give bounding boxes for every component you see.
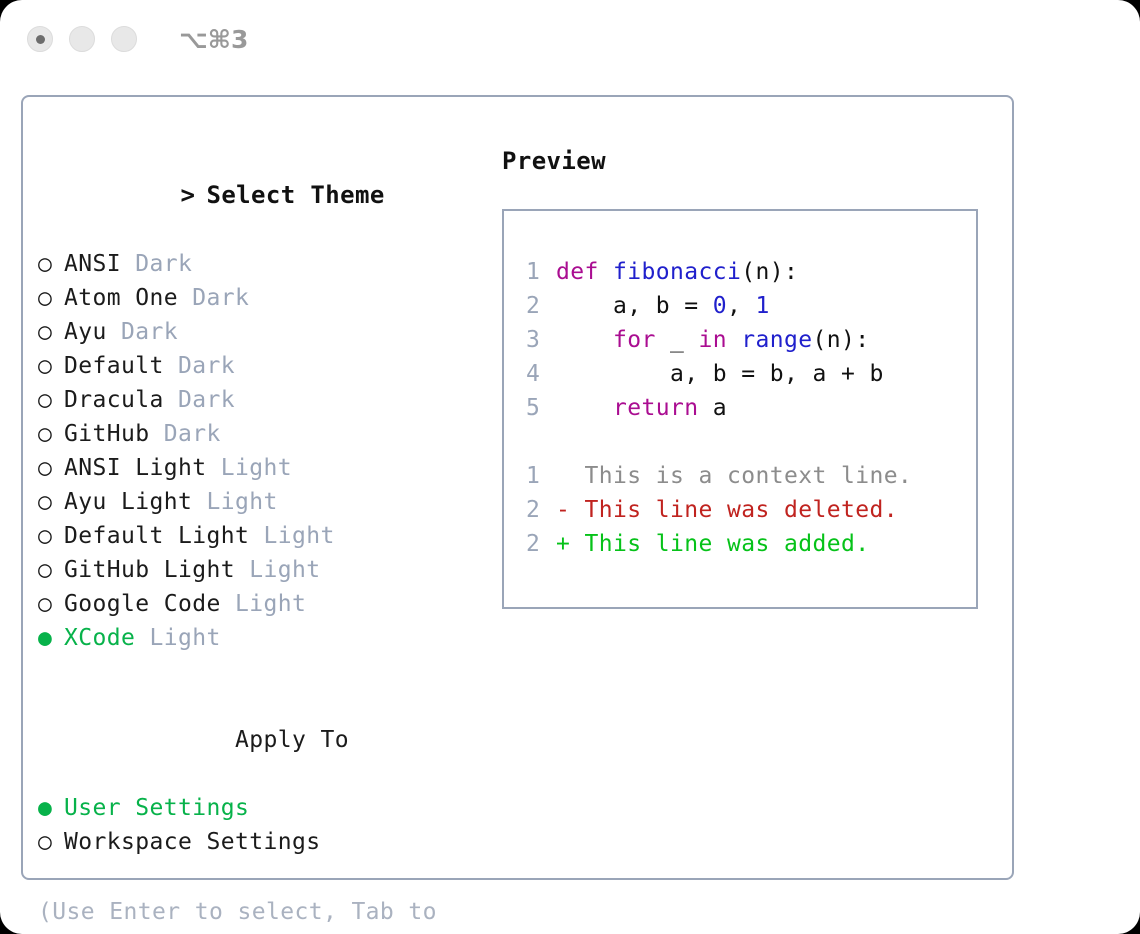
theme-variant-label: Light bbox=[150, 625, 221, 651]
preview-code-lines: 1def fibonacci(n):2 a, b = 0, 13 for _ i… bbox=[526, 255, 976, 425]
apply-to-header-spacer bbox=[209, 723, 235, 757]
diff-sign: + bbox=[556, 531, 570, 557]
apply-to-header: Apply To bbox=[38, 689, 508, 791]
apply-to-list: ●User Settings○Workspace Settings bbox=[38, 791, 508, 859]
diff-line: 2- This line was deleted. bbox=[526, 493, 976, 527]
theme-name-gap bbox=[178, 285, 192, 311]
theme-name: Atom One bbox=[64, 285, 178, 311]
diff-text: This line was added. bbox=[570, 531, 869, 557]
code-line: 2 a, b = 0, 1 bbox=[526, 289, 976, 323]
theme-variant-label: Light bbox=[221, 455, 292, 481]
radio-unselected-icon: ○ bbox=[38, 519, 64, 553]
code-token-kw: def bbox=[556, 259, 613, 285]
diff-text: This line was deleted. bbox=[570, 497, 898, 523]
theme-variant-label: Dark bbox=[192, 285, 249, 311]
preview-column: Preview 1def fibonacci(n):2 a, b = 0, 13… bbox=[502, 144, 992, 609]
code-line-number: 1 bbox=[526, 255, 556, 289]
theme-list-item[interactable]: ○ANSI Light Light bbox=[38, 451, 508, 485]
theme-name-gap bbox=[107, 319, 121, 345]
code-token-plain bbox=[556, 327, 613, 353]
window-titlebar: ⌥⌘3 bbox=[0, 0, 1140, 78]
theme-name: GitHub Light bbox=[64, 557, 235, 583]
theme-name: Dracula bbox=[64, 387, 164, 413]
code-token-plain bbox=[556, 395, 613, 421]
radio-unselected-icon: ○ bbox=[38, 349, 64, 383]
code-line-number: 4 bbox=[526, 357, 556, 391]
apply-to-label: User Settings bbox=[64, 795, 249, 821]
window-controls bbox=[27, 26, 137, 52]
theme-name: ANSI bbox=[64, 251, 121, 277]
prompt-caret-icon: > bbox=[180, 178, 206, 212]
code-line: 3 for _ in range(n): bbox=[526, 323, 976, 357]
main-panel: > Select Theme ○ANSI Dark○Atom One Dark○… bbox=[21, 95, 1014, 880]
diff-line-number: 2 bbox=[526, 493, 556, 527]
code-token-fn: range bbox=[741, 327, 812, 353]
radio-selected-icon: ● bbox=[38, 791, 64, 825]
theme-name-gap bbox=[135, 625, 149, 651]
code-token-plain: a, b = bbox=[556, 293, 713, 319]
apply-to-header-label: Apply To bbox=[235, 727, 349, 753]
keyboard-shortcut-label: ⌥⌘3 bbox=[179, 25, 248, 54]
select-theme-header: > Select Theme bbox=[38, 144, 508, 247]
theme-name: GitHub bbox=[64, 421, 149, 447]
diff-line-number: 2 bbox=[526, 527, 556, 561]
code-token-kw: in bbox=[699, 327, 728, 353]
apply-to-label: Workspace Settings bbox=[64, 829, 320, 855]
preview-code-box: 1def fibonacci(n):2 a, b = 0, 13 for _ i… bbox=[502, 209, 978, 609]
code-token-plain: (n): bbox=[741, 259, 798, 285]
radio-unselected-icon: ○ bbox=[38, 825, 64, 859]
theme-name-gap bbox=[206, 455, 220, 481]
diff-text: This is a context line. bbox=[570, 463, 912, 489]
keyboard-hint-line-1: (Use Enter to select, Tab to bbox=[38, 895, 458, 929]
theme-variant-label: Dark bbox=[178, 387, 235, 413]
theme-list-item[interactable]: ○Ayu Light Light bbox=[38, 485, 508, 519]
keyboard-hint: (Use Enter to select, Tab to change focu… bbox=[38, 895, 458, 934]
theme-name-gap bbox=[164, 353, 178, 379]
theme-variant-label: Dark bbox=[164, 421, 221, 447]
apply-to-item[interactable]: ○Workspace Settings bbox=[38, 825, 508, 859]
theme-name: Default bbox=[64, 353, 164, 379]
theme-variant-label: Dark bbox=[178, 353, 235, 379]
app-window: ⌥⌘3 > Select Theme ○ANSI Dark○Atom One D… bbox=[0, 0, 1140, 934]
code-line: 5 return a bbox=[526, 391, 976, 425]
code-token-plain: _ bbox=[656, 327, 699, 353]
code-token-num: 1 bbox=[755, 293, 769, 319]
diff-line: 1 This is a context line. bbox=[526, 459, 976, 493]
code-token-fn: fibonacci bbox=[613, 259, 741, 285]
theme-name-gap bbox=[164, 387, 178, 413]
code-line: 4 a, b = b, a + b bbox=[526, 357, 976, 391]
window-dot-3[interactable] bbox=[111, 26, 137, 52]
theme-name: Ayu bbox=[64, 319, 107, 345]
theme-list: ○ANSI Dark○Atom One Dark○Ayu Dark○Defaul… bbox=[38, 247, 508, 655]
radio-unselected-icon: ○ bbox=[38, 451, 64, 485]
theme-variant-label: Dark bbox=[121, 319, 178, 345]
radio-unselected-icon: ○ bbox=[38, 281, 64, 315]
theme-variant-label: Light bbox=[235, 591, 306, 617]
theme-list-item[interactable]: ○Google Code Light bbox=[38, 587, 508, 621]
code-token-kw: for bbox=[613, 327, 656, 353]
code-line-number: 3 bbox=[526, 323, 556, 357]
theme-list-item[interactable]: ○GitHub Light Light bbox=[38, 553, 508, 587]
theme-name: Ayu Light bbox=[64, 489, 192, 515]
apply-to-item[interactable]: ●User Settings bbox=[38, 791, 508, 825]
apply-to-section: Apply To ●User Settings○Workspace Settin… bbox=[38, 689, 508, 859]
code-diff-spacer bbox=[526, 425, 976, 459]
theme-list-item[interactable]: ○GitHub Dark bbox=[38, 417, 508, 451]
theme-picker-column: > Select Theme ○ANSI Dark○Atom One Dark○… bbox=[38, 144, 508, 934]
code-token-num: 0 bbox=[713, 293, 727, 319]
theme-name: ANSI Light bbox=[64, 455, 206, 481]
diff-sign: - bbox=[556, 497, 570, 523]
theme-name: XCode bbox=[64, 625, 135, 651]
window-dot-2[interactable] bbox=[69, 26, 95, 52]
code-line-number: 5 bbox=[526, 391, 556, 425]
theme-name-gap bbox=[235, 557, 249, 583]
radio-selected-icon: ● bbox=[38, 621, 64, 655]
theme-list-item[interactable]: ○Dracula Dark bbox=[38, 383, 508, 417]
radio-unselected-icon: ○ bbox=[38, 383, 64, 417]
window-dot-active[interactable] bbox=[27, 26, 53, 52]
theme-name-gap bbox=[121, 251, 135, 277]
code-token-plain: (n): bbox=[813, 327, 870, 353]
theme-name: Default Light bbox=[64, 523, 249, 549]
radio-unselected-icon: ○ bbox=[38, 315, 64, 349]
theme-list-item[interactable]: ○Atom One Dark bbox=[38, 281, 508, 315]
radio-unselected-icon: ○ bbox=[38, 417, 64, 451]
theme-list-item[interactable]: ○ANSI Dark bbox=[38, 247, 508, 281]
code-token-kw: return bbox=[613, 395, 698, 421]
diff-sign bbox=[556, 463, 570, 489]
theme-list-item[interactable]: ○Ayu Dark bbox=[38, 315, 508, 349]
preview-diff-lines: 1 This is a context line.2- This line wa… bbox=[526, 459, 976, 561]
radio-unselected-icon: ○ bbox=[38, 485, 64, 519]
select-theme-header-label: Select Theme bbox=[206, 181, 384, 209]
code-line-number: 2 bbox=[526, 289, 556, 323]
theme-variant-label: Light bbox=[249, 557, 320, 583]
code-token-plain bbox=[727, 327, 741, 353]
code-token-plain: a bbox=[698, 395, 727, 421]
theme-variant-label: Dark bbox=[135, 251, 192, 277]
theme-list-item[interactable]: ○Default Light Light bbox=[38, 519, 508, 553]
diff-line: 2+ This line was added. bbox=[526, 527, 976, 561]
radio-unselected-icon: ○ bbox=[38, 247, 64, 281]
radio-unselected-icon: ○ bbox=[38, 553, 64, 587]
theme-name-gap bbox=[221, 591, 235, 617]
radio-unselected-icon: ○ bbox=[38, 587, 64, 621]
diff-line-number: 1 bbox=[526, 459, 556, 493]
theme-list-item[interactable]: ○Default Dark bbox=[38, 349, 508, 383]
window-dot-active-fill bbox=[36, 35, 45, 44]
preview-title: Preview bbox=[502, 144, 992, 178]
theme-variant-label: Light bbox=[206, 489, 277, 515]
theme-name: Google Code bbox=[64, 591, 221, 617]
theme-name-gap bbox=[192, 489, 206, 515]
theme-name-gap bbox=[249, 523, 263, 549]
theme-name-gap bbox=[149, 421, 163, 447]
theme-list-item[interactable]: ●XCode Light bbox=[38, 621, 508, 655]
code-token-plain: a, b = b, a + b bbox=[556, 361, 884, 387]
theme-variant-label: Light bbox=[263, 523, 334, 549]
code-token-plain: , bbox=[727, 293, 756, 319]
keyboard-hint-line-2: change focus) bbox=[38, 929, 458, 934]
code-line: 1def fibonacci(n): bbox=[526, 255, 976, 289]
